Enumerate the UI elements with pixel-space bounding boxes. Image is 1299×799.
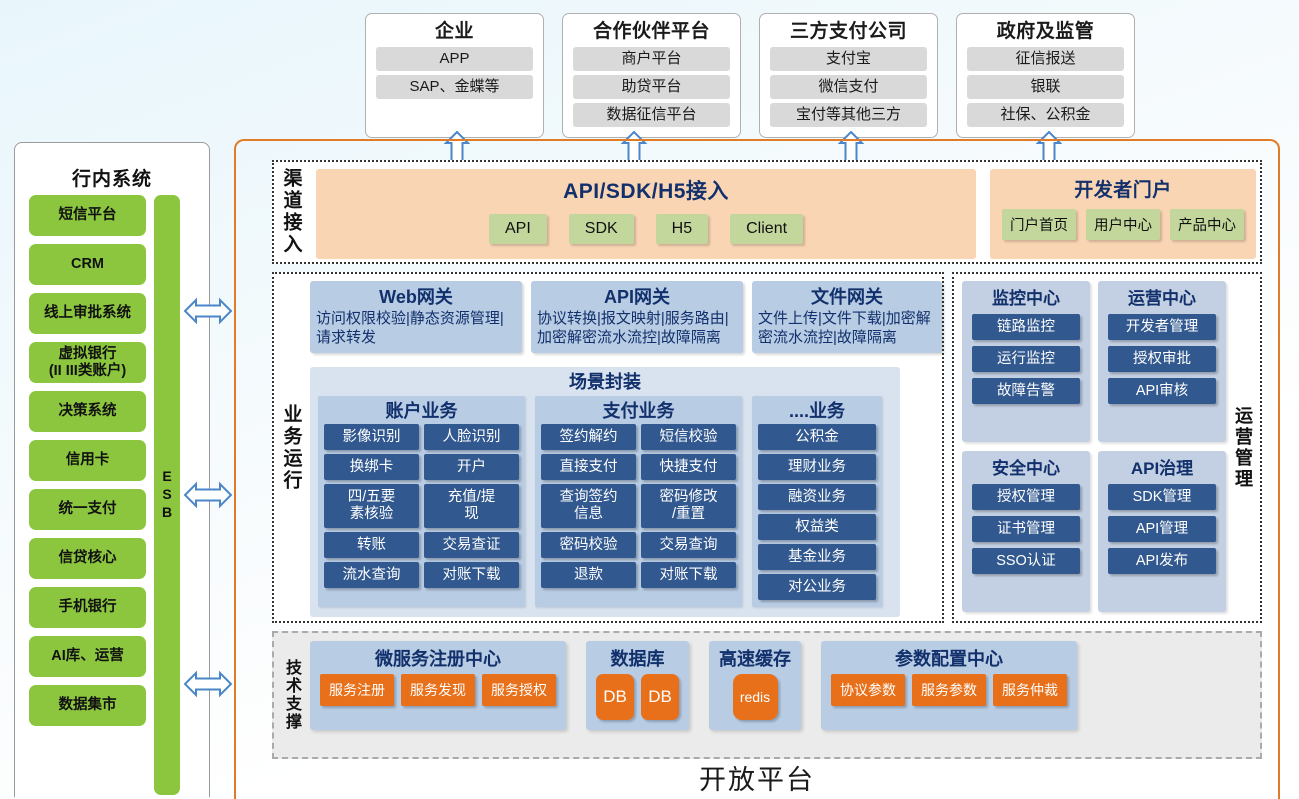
ops-item[interactable]: 授权管理 xyxy=(972,484,1080,510)
scene-group-items: 公积金理财业务融资业务权益类基金业务对公业务 xyxy=(758,424,876,600)
gateway-title: 文件网关 xyxy=(758,285,936,309)
tech-support-card: 微服务注册中心服务注册服务发现服务授权 xyxy=(310,641,566,730)
scene-item[interactable]: 四/五要 素核验 xyxy=(324,484,419,528)
developer-portal-title: 开发者门户 xyxy=(990,169,1256,202)
api-sdk-h5-chips: APISDKH5Client xyxy=(316,214,976,244)
tech-support-title: 微服务注册中心 xyxy=(320,644,556,674)
esb-label: ESB xyxy=(157,468,177,522)
ops-item[interactable]: API管理 xyxy=(1108,516,1216,542)
api-sdk-h5-access-group: API/SDK/H5接入 APISDKH5Client xyxy=(316,169,976,259)
scene-group-title: 支付业务 xyxy=(541,398,736,424)
scene-item[interactable]: 对账下载 xyxy=(641,562,736,588)
scene-item[interactable]: 公积金 xyxy=(758,424,876,450)
channel-access-chip[interactable]: API xyxy=(489,214,547,244)
external-party-title: 三方支付公司 xyxy=(770,19,927,45)
external-party-item[interactable]: 微信支付 xyxy=(770,75,927,99)
scene-encapsulation-box: 场景封装 账户业务影像识别人脸识别换绑卡开户四/五要 素核验充值/提 现转账交易… xyxy=(310,367,900,617)
external-party-items: 支付宝微信支付宝付等其他三方 xyxy=(770,47,927,127)
internal-system-item[interactable]: 统一支付 xyxy=(29,489,146,530)
internal-system-item[interactable]: 线上审批系统 xyxy=(29,293,146,334)
scene-item[interactable]: 交易查证 xyxy=(424,532,519,558)
gateway-description: 访问权限校验|静态资源管理|请求转发 xyxy=(316,309,516,347)
external-party-item[interactable]: 数据征信平台 xyxy=(573,103,730,127)
tech-support-title: 高速缓存 xyxy=(719,644,791,674)
ops-card-title: 运营中心 xyxy=(1108,284,1216,314)
internal-systems-title: 行内系统 xyxy=(15,164,209,191)
external-party-card: 企业APPSAP、金蝶等 xyxy=(365,13,544,138)
internal-system-item[interactable]: 短信平台 xyxy=(29,195,146,236)
tech-support-chips: DBDB xyxy=(596,674,679,720)
tech-support-card: 高速缓存redis xyxy=(709,641,801,730)
ops-item[interactable]: 链路监控 xyxy=(972,314,1080,340)
internal-system-item[interactable]: 信用卡 xyxy=(29,440,146,481)
external-party-title: 政府及监管 xyxy=(967,19,1124,45)
database-icon[interactable]: DB xyxy=(596,674,634,720)
channel-access-label: 渠道接入 xyxy=(278,162,304,262)
internal-systems-panel: 行内系统 短信平台CRM线上审批系统虚拟银行 (II III类账户)决策系统信用… xyxy=(14,142,210,797)
tech-support-card: 数据库DBDB xyxy=(586,641,689,730)
ops-management-grid: 监控中心链路监控运行监控故障告警运营中心开发者管理授权审批API审核安全中心授权… xyxy=(962,281,1226,612)
scene-item[interactable]: 对公业务 xyxy=(758,574,876,600)
ops-card-items: 授权管理证书管理SSO认证 xyxy=(972,484,1080,574)
external-party-item[interactable]: APP xyxy=(376,47,533,71)
channel-access-section: 渠道接入 API/SDK/H5接入 APISDKH5Client 开发者门户 门… xyxy=(272,160,1262,264)
tech-support-chip[interactable]: 服务发现 xyxy=(401,674,475,706)
external-party-title: 合作伙伴平台 xyxy=(573,19,730,45)
external-party-item[interactable]: 征信报送 xyxy=(967,47,1124,71)
ops-item[interactable]: SDK管理 xyxy=(1108,484,1216,510)
scene-item[interactable]: 退款 xyxy=(541,562,636,588)
ops-item[interactable]: 授权审批 xyxy=(1108,346,1216,372)
scene-item[interactable]: 融资业务 xyxy=(758,484,876,510)
gateway-card[interactable]: 文件网关文件上传|文件下载|加密解密流水流控|故障隔离 xyxy=(752,281,942,353)
scene-item[interactable]: 短信校验 xyxy=(641,424,736,450)
api-sdk-h5-access-title: API/SDK/H5接入 xyxy=(316,169,976,205)
tech-support-card: 参数配置中心协议参数服务参数服务仲裁 xyxy=(821,641,1077,730)
tech-support-title: 数据库 xyxy=(596,644,679,674)
ops-item[interactable]: SSO认证 xyxy=(972,548,1080,574)
scene-item[interactable]: 密码校验 xyxy=(541,532,636,558)
tech-support-section: 技术支撑 微服务注册中心服务注册服务发现服务授权数据库DBDB高速缓存redis… xyxy=(272,631,1262,759)
gateway-card[interactable]: API网关协议转换|报文映射|服务路由|加密解密流水流控|故障隔离 xyxy=(531,281,743,353)
scene-group: ....业务公积金理财业务融资业务权益类基金业务对公业务 xyxy=(752,396,882,607)
tech-support-chip[interactable]: 服务参数 xyxy=(912,674,986,706)
tech-support-chips: 服务注册服务发现服务授权 xyxy=(320,674,556,706)
tech-support-chip[interactable]: 服务仲裁 xyxy=(993,674,1067,706)
developer-portal-chips: 门户首页用户中心产品中心 xyxy=(990,209,1256,240)
gateway-row: Web网关访问权限校验|静态资源管理|请求转发API网关协议转换|报文映射|服务… xyxy=(310,281,942,353)
gateway-description: 协议转换|报文映射|服务路由|加密解密流水流控|故障隔离 xyxy=(537,309,737,347)
ops-card: 安全中心授权管理证书管理SSO认证 xyxy=(962,451,1090,612)
channel-access-chip[interactable]: Client xyxy=(730,214,803,244)
connector-arrow-esb-top xyxy=(184,294,232,328)
external-party-items: 商户平台助贷平台数据征信平台 xyxy=(573,47,730,127)
ops-card-title: 监控中心 xyxy=(972,284,1080,314)
external-party-card: 三方支付公司支付宝微信支付宝付等其他三方 xyxy=(759,13,938,138)
scene-columns: 账户业务影像识别人脸识别换绑卡开户四/五要 素核验充值/提 现转账交易查证流水查… xyxy=(318,396,892,607)
internal-system-item[interactable]: 手机银行 xyxy=(29,587,146,628)
page-title: 开放平台 xyxy=(236,758,1278,797)
external-parties-row: 企业APPSAP、金蝶等合作伙伴平台商户平台助贷平台数据征信平台三方支付公司支付… xyxy=(365,13,1135,138)
connector-arrow-esb-bottom xyxy=(184,667,232,701)
external-party-item[interactable]: 社保、公积金 xyxy=(967,103,1124,127)
external-party-item[interactable]: 商户平台 xyxy=(573,47,730,71)
scene-group-items: 签约解约短信校验直接支付快捷支付查询签约 信息密码修改 /重置密码校验交易查询退… xyxy=(541,424,736,588)
ops-card: 运营中心开发者管理授权审批API审核 xyxy=(1098,281,1226,442)
tech-support-chip[interactable]: 协议参数 xyxy=(831,674,905,706)
external-party-item[interactable]: 银联 xyxy=(967,75,1124,99)
external-party-card: 政府及监管征信报送银联社保、公积金 xyxy=(956,13,1135,138)
channel-access-chip[interactable]: SDK xyxy=(569,214,634,244)
tech-support-row: 微服务注册中心服务注册服务发现服务授权数据库DBDB高速缓存redis参数配置中… xyxy=(310,641,1077,730)
ops-item[interactable]: 运行监控 xyxy=(972,346,1080,372)
internal-system-item[interactable]: 数据集市 xyxy=(29,685,146,726)
scene-item[interactable]: 转账 xyxy=(324,532,419,558)
external-party-item[interactable]: 助贷平台 xyxy=(573,75,730,99)
ops-card-items: 开发者管理授权审批API审核 xyxy=(1108,314,1216,404)
scene-item[interactable]: 密码修改 /重置 xyxy=(641,484,736,528)
ops-card: 监控中心链路监控运行监控故障告警 xyxy=(962,281,1090,442)
scene-item[interactable]: 查询签约 信息 xyxy=(541,484,636,528)
developer-portal-chip[interactable]: 用户中心 xyxy=(1086,209,1160,240)
scene-encapsulation-title: 场景封装 xyxy=(318,370,892,394)
scene-item[interactable]: 人脸识别 xyxy=(424,424,519,450)
ops-item[interactable]: 故障告警 xyxy=(972,378,1080,404)
ops-item[interactable]: API发布 xyxy=(1108,548,1216,574)
external-party-items: APPSAP、金蝶等 xyxy=(376,47,533,99)
external-party-item[interactable]: SAP、金蝶等 xyxy=(376,75,533,99)
tech-support-chip[interactable]: 服务注册 xyxy=(320,674,394,706)
scene-item[interactable]: 对账下载 xyxy=(424,562,519,588)
tech-support-chip[interactable]: 服务授权 xyxy=(482,674,556,706)
scene-item[interactable]: 理财业务 xyxy=(758,454,876,480)
tech-support-chips: 协议参数服务参数服务仲裁 xyxy=(831,674,1067,706)
scene-item[interactable]: 影像识别 xyxy=(324,424,419,450)
external-party-item[interactable]: 宝付等其他三方 xyxy=(770,103,927,127)
internal-system-item[interactable]: 虚拟银行 (II III类账户) xyxy=(29,342,146,383)
ops-card-title: 安全中心 xyxy=(972,454,1080,484)
ops-management-section: 监控中心链路监控运行监控故障告警运营中心开发者管理授权审批API审核安全中心授权… xyxy=(952,272,1262,623)
internal-systems-list: 短信平台CRM线上审批系统虚拟银行 (II III类账户)决策系统信用卡统一支付… xyxy=(29,195,146,795)
open-platform-container: 渠道接入 API/SDK/H5接入 APISDKH5Client 开发者门户 门… xyxy=(234,139,1280,799)
scene-group: 支付业务签约解约短信校验直接支付快捷支付查询签约 信息密码修改 /重置密码校验交… xyxy=(535,396,742,607)
database-icon[interactable]: DB xyxy=(641,674,679,720)
esb-bar: ESB xyxy=(154,195,180,795)
scene-group: 账户业务影像识别人脸识别换绑卡开户四/五要 素核验充值/提 现转账交易查证流水查… xyxy=(318,396,525,607)
scene-item[interactable]: 快捷支付 xyxy=(641,454,736,480)
external-party-item[interactable]: 支付宝 xyxy=(770,47,927,71)
ops-item[interactable]: 开发者管理 xyxy=(1108,314,1216,340)
scene-item[interactable]: 流水查询 xyxy=(324,562,419,588)
business-run-section: 业务运行 Web网关访问权限校验|静态资源管理|请求转发API网关协议转换|报文… xyxy=(272,272,944,623)
gateway-title: Web网关 xyxy=(316,285,516,309)
redis-cache-icon[interactable]: redis xyxy=(733,674,778,720)
scene-item[interactable]: 开户 xyxy=(424,454,519,480)
external-party-items: 征信报送银联社保、公积金 xyxy=(967,47,1124,127)
ops-card-items: 链路监控运行监控故障告警 xyxy=(972,314,1080,404)
ops-card: API治理SDK管理API管理API发布 xyxy=(1098,451,1226,612)
scene-item[interactable]: 权益类 xyxy=(758,514,876,540)
business-run-label: 业务运行 xyxy=(278,274,304,621)
tech-support-chips: redis xyxy=(719,674,791,720)
ops-card-title: API治理 xyxy=(1108,454,1216,484)
tech-support-title: 参数配置中心 xyxy=(831,644,1067,674)
scene-item[interactable]: 签约解约 xyxy=(541,424,636,450)
developer-portal-group: 开发者门户 门户首页用户中心产品中心 xyxy=(990,169,1256,259)
scene-item[interactable]: 换绑卡 xyxy=(324,454,419,480)
scene-item[interactable]: 基金业务 xyxy=(758,544,876,570)
external-party-title: 企业 xyxy=(376,19,533,45)
scene-item[interactable]: 交易查询 xyxy=(641,532,736,558)
internal-system-item[interactable]: 决策系统 xyxy=(29,391,146,432)
gateway-title: API网关 xyxy=(537,285,737,309)
external-party-card: 合作伙伴平台商户平台助贷平台数据征信平台 xyxy=(562,13,741,138)
internal-system-item[interactable]: AI库、运营 xyxy=(29,636,146,677)
ops-card-items: SDK管理API管理API发布 xyxy=(1108,484,1216,574)
connector-arrow-esb-middle xyxy=(184,478,232,512)
scene-item[interactable]: 直接支付 xyxy=(541,454,636,480)
developer-portal-chip[interactable]: 门户首页 xyxy=(1002,209,1076,240)
developer-portal-chip[interactable]: 产品中心 xyxy=(1170,209,1244,240)
scene-group-items: 影像识别人脸识别换绑卡开户四/五要 素核验充值/提 现转账交易查证流水查询对账下… xyxy=(324,424,519,588)
internal-system-item[interactable]: CRM xyxy=(29,244,146,285)
scene-item[interactable]: 充值/提 现 xyxy=(424,484,519,528)
ops-item[interactable]: API审核 xyxy=(1108,378,1216,404)
scene-group-title: 账户业务 xyxy=(324,398,519,424)
scene-group-title: ....业务 xyxy=(758,398,876,424)
ops-item[interactable]: 证书管理 xyxy=(972,516,1080,542)
tech-support-label: 技术支撑 xyxy=(278,633,304,757)
ops-management-label: 运营管理 xyxy=(1230,274,1256,621)
gateway-description: 文件上传|文件下载|加密解密流水流控|故障隔离 xyxy=(758,309,936,347)
gateway-card[interactable]: Web网关访问权限校验|静态资源管理|请求转发 xyxy=(310,281,522,353)
internal-system-item[interactable]: 信贷核心 xyxy=(29,538,146,579)
channel-access-chip[interactable]: H5 xyxy=(656,214,708,244)
